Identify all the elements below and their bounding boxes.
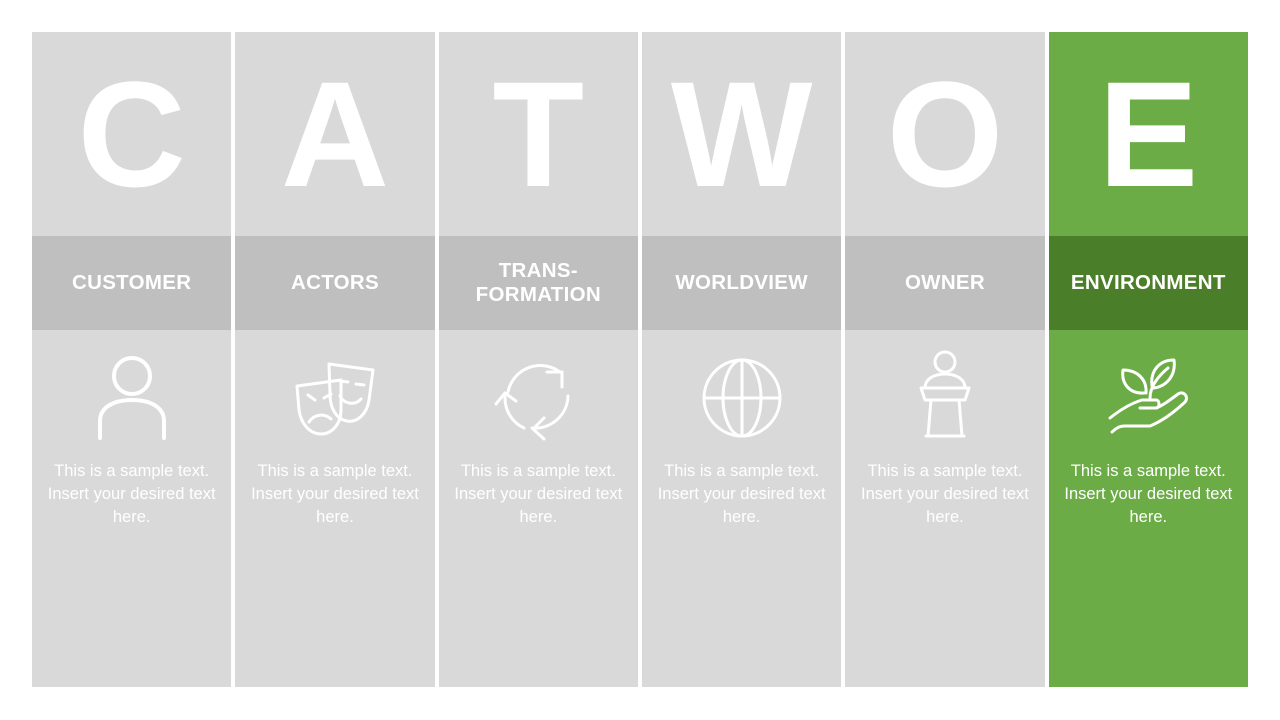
- label-band-actors: ACTORS: [235, 236, 434, 330]
- catwoe-column-environment[interactable]: E ENVIRONMENT: [1049, 32, 1248, 687]
- letter-glyph-o: O: [887, 59, 1004, 209]
- body-text-transformation: This is a sample text. Insert your desir…: [451, 460, 626, 528]
- letter-cell-worldview: W: [642, 32, 841, 236]
- content-cell-transformation: This is a sample text. Insert your desir…: [439, 330, 638, 687]
- theater-masks-icon: [283, 348, 387, 448]
- content-cell-environment: This is a sample text. Insert your desir…: [1049, 330, 1248, 687]
- label-text-worldview: WORLDVIEW: [675, 271, 808, 295]
- label-band-worldview: WORLDVIEW: [642, 236, 841, 330]
- catwoe-column-worldview[interactable]: W WORLDVIEW This is a sample text. Inser…: [642, 32, 841, 687]
- label-text-customer: CUSTOMER: [72, 271, 191, 295]
- catwoe-grid: C CUSTOMER This is a sample text. Insert…: [32, 32, 1248, 687]
- cycle-arrows-icon: [486, 348, 590, 448]
- label-band-owner: OWNER: [845, 236, 1044, 330]
- content-cell-worldview: This is a sample text. Insert your desir…: [642, 330, 841, 687]
- hand-sprout-icon: [1096, 348, 1200, 448]
- letter-glyph-c: C: [78, 59, 186, 209]
- body-text-owner: This is a sample text. Insert your desir…: [857, 460, 1032, 528]
- content-cell-customer: This is a sample text. Insert your desir…: [32, 330, 231, 687]
- catwoe-slide: C CUSTOMER This is a sample text. Insert…: [0, 0, 1280, 720]
- letter-cell-customer: C: [32, 32, 231, 236]
- label-text-actors: ACTORS: [291, 271, 379, 295]
- body-text-worldview: This is a sample text. Insert your desir…: [654, 460, 829, 528]
- body-text-actors: This is a sample text. Insert your desir…: [247, 460, 422, 528]
- body-text-customer: This is a sample text. Insert your desir…: [44, 460, 219, 528]
- body-text-environment: This is a sample text. Insert your desir…: [1061, 460, 1236, 528]
- letter-glyph-t: T: [493, 59, 585, 209]
- letter-cell-transformation: T: [439, 32, 638, 236]
- letter-glyph-w: W: [671, 59, 813, 209]
- label-band-environment: ENVIRONMENT: [1049, 236, 1248, 330]
- person-icon: [80, 348, 184, 448]
- podium-speaker-icon: [893, 348, 997, 448]
- label-text-environment: ENVIRONMENT: [1071, 271, 1226, 295]
- catwoe-column-transformation[interactable]: T TRANS- FORMATION: [439, 32, 638, 687]
- letter-glyph-a: A: [281, 59, 389, 209]
- letter-cell-actors: A: [235, 32, 434, 236]
- catwoe-column-actors[interactable]: A ACTORS: [235, 32, 434, 687]
- catwoe-column-owner[interactable]: O OWNER: [845, 32, 1044, 687]
- letter-glyph-e: E: [1098, 59, 1198, 209]
- label-band-customer: CUSTOMER: [32, 236, 231, 330]
- letter-cell-environment: E: [1049, 32, 1248, 236]
- letter-cell-owner: O: [845, 32, 1044, 236]
- label-band-transformation: TRANS- FORMATION: [439, 236, 638, 330]
- content-cell-owner: This is a sample text. Insert your desir…: [845, 330, 1044, 687]
- content-cell-actors: This is a sample text. Insert your desir…: [235, 330, 434, 687]
- label-text-owner: OWNER: [905, 271, 985, 295]
- catwoe-column-customer[interactable]: C CUSTOMER This is a sample text. Insert…: [32, 32, 231, 687]
- globe-icon: [690, 348, 794, 448]
- label-text-transformation: TRANS- FORMATION: [476, 259, 601, 306]
